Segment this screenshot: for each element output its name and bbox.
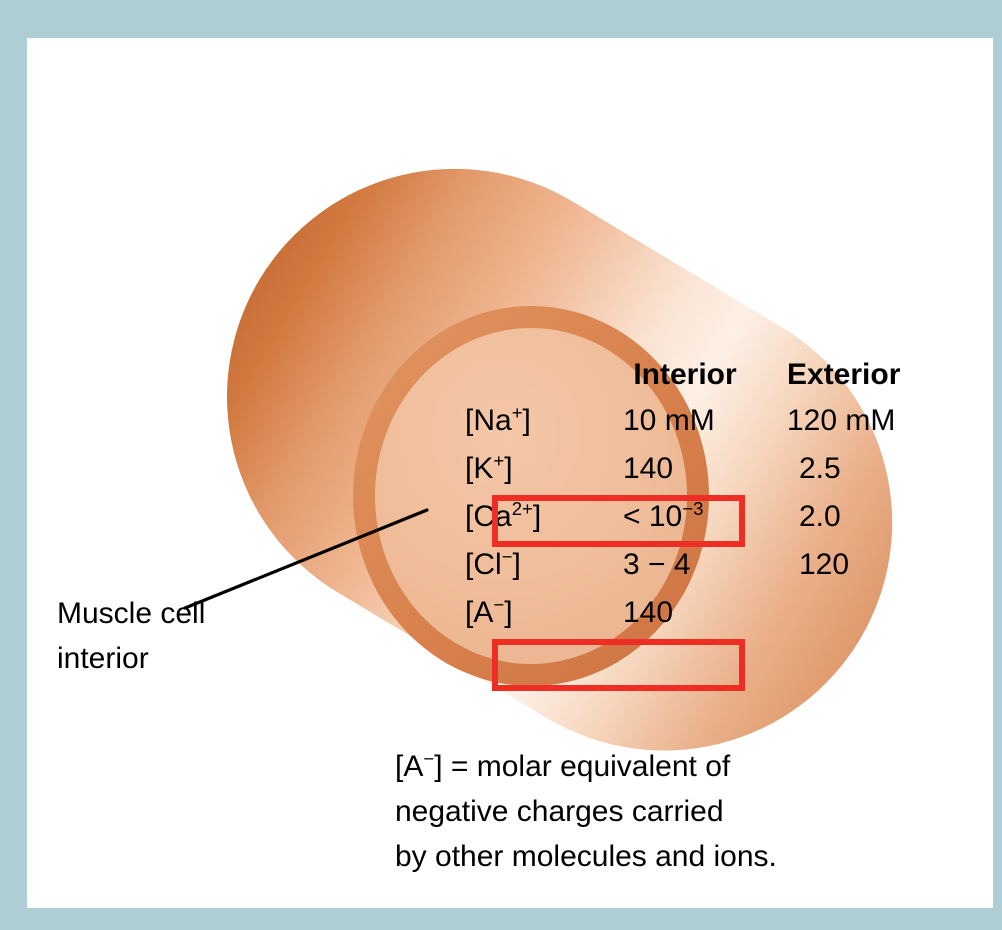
figure-canvas: Muscle cell interior Interior Exterior [… (27, 38, 993, 908)
figure-frame: Muscle cell interior Interior Exterior [… (0, 0, 1002, 930)
callout-line-2: interior (57, 636, 287, 681)
charge-calcium: 2+ (512, 498, 533, 519)
ion-label-sodium: [Na+] (465, 397, 595, 445)
charge-potassium: + (493, 450, 504, 471)
muscle-cell-interior-label: Muscle cell interior (57, 591, 287, 681)
charge-sodium: + (512, 402, 523, 423)
interior-value-potassium: 140 (605, 445, 783, 493)
exterior-value-calcium: 2.0 (787, 493, 974, 541)
charge-anion: − (493, 594, 504, 615)
table-row-anion: [A−] 140 (457, 589, 987, 637)
table-row-calcium: [Ca2+] < 10−3 2.0 (457, 493, 987, 541)
footnote-line-2: negative charges carried (395, 789, 915, 834)
table-row-potassium: [K+] 140 2.5 (457, 445, 987, 493)
interior-value-sodium: 10 mM (605, 397, 783, 445)
ion-label-chloride: [Cl−] (465, 541, 595, 589)
ion-label-calcium: [Ca2+] (465, 493, 595, 541)
ion-concentration-table: Interior Exterior [Na+] 10 mM 120 mM [K+… (457, 353, 987, 637)
interior-value-chloride: 3 − 4 (605, 541, 783, 589)
table-header-row: Interior Exterior (457, 353, 987, 397)
footnote-line-3: by other molecules and ions. (395, 834, 915, 879)
interior-value-calcium: < 10−3 (605, 493, 783, 541)
exterior-value-sodium: 120 mM (787, 397, 962, 445)
ion-label-potassium: [K+] (465, 445, 595, 493)
interior-value-anion: 140 (605, 589, 783, 637)
table-row-sodium: [Na+] 10 mM 120 mM (457, 397, 987, 445)
footnote-charge: − (423, 748, 434, 769)
calcium-exponent: −3 (682, 498, 703, 519)
header-interior: Interior (605, 353, 765, 397)
exterior-value-chloride: 120 (787, 541, 974, 589)
table-row-chloride: [Cl−] 3 − 4 120 (457, 541, 987, 589)
header-exterior: Exterior (787, 353, 962, 397)
footnote-line-1: [A−] = molar equivalent of (395, 744, 915, 789)
callout-line-1: Muscle cell (57, 591, 287, 636)
charge-chloride: − (502, 546, 513, 567)
anion-definition-note: [A−] = molar equivalent of negative char… (395, 744, 915, 879)
ion-label-anion: [A−] (465, 589, 595, 637)
exterior-value-potassium: 2.5 (787, 445, 974, 493)
